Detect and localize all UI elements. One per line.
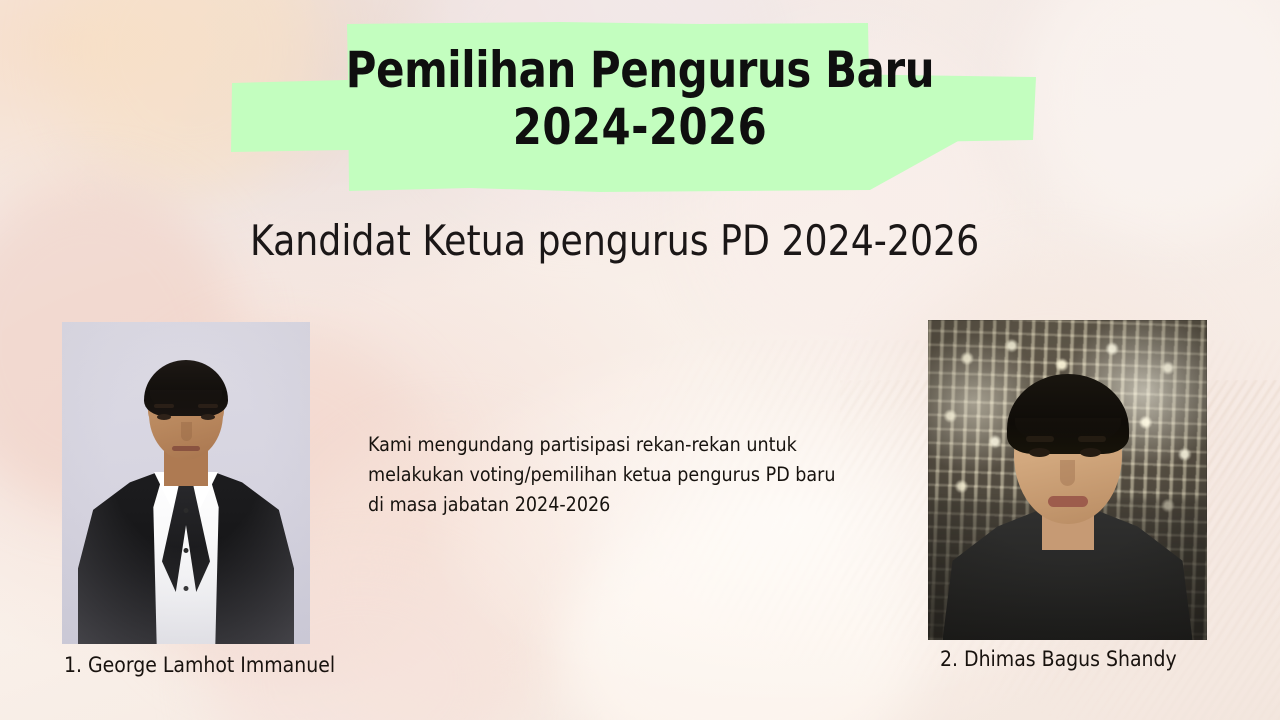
body-line-2: melakukan voting/pemilihan ketua penguru… bbox=[368, 460, 888, 490]
body-line-1: Kami mengundang partisipasi rekan-rekan … bbox=[368, 430, 888, 460]
candidate-caption-2: 2. Dhimas Bagus Shandy bbox=[940, 646, 1177, 672]
title-line-2: 2024-2026 bbox=[45, 99, 1235, 156]
photo-vignette bbox=[928, 320, 1207, 640]
body-line-3: di masa jabatan 2024-2026 bbox=[368, 490, 888, 520]
body-paragraph: Kami mengundang partisipasi rekan-rekan … bbox=[368, 430, 888, 520]
candidate-photo-1 bbox=[62, 322, 310, 644]
slide-title: Pemilihan Pengurus Baru 2024-2026 bbox=[45, 42, 1235, 156]
candidate-photo-2 bbox=[928, 320, 1207, 640]
photo-vignette bbox=[62, 322, 310, 644]
candidate-caption-1: 1. George Lamhot Immanuel bbox=[64, 652, 335, 678]
presentation-slide: Pemilihan Pengurus Baru 2024-2026 Kandid… bbox=[0, 0, 1280, 720]
title-line-1: Pemilihan Pengurus Baru bbox=[45, 42, 1235, 99]
slide-subtitle: Kandidat Ketua pengurus PD 2024-2026 bbox=[250, 216, 979, 266]
